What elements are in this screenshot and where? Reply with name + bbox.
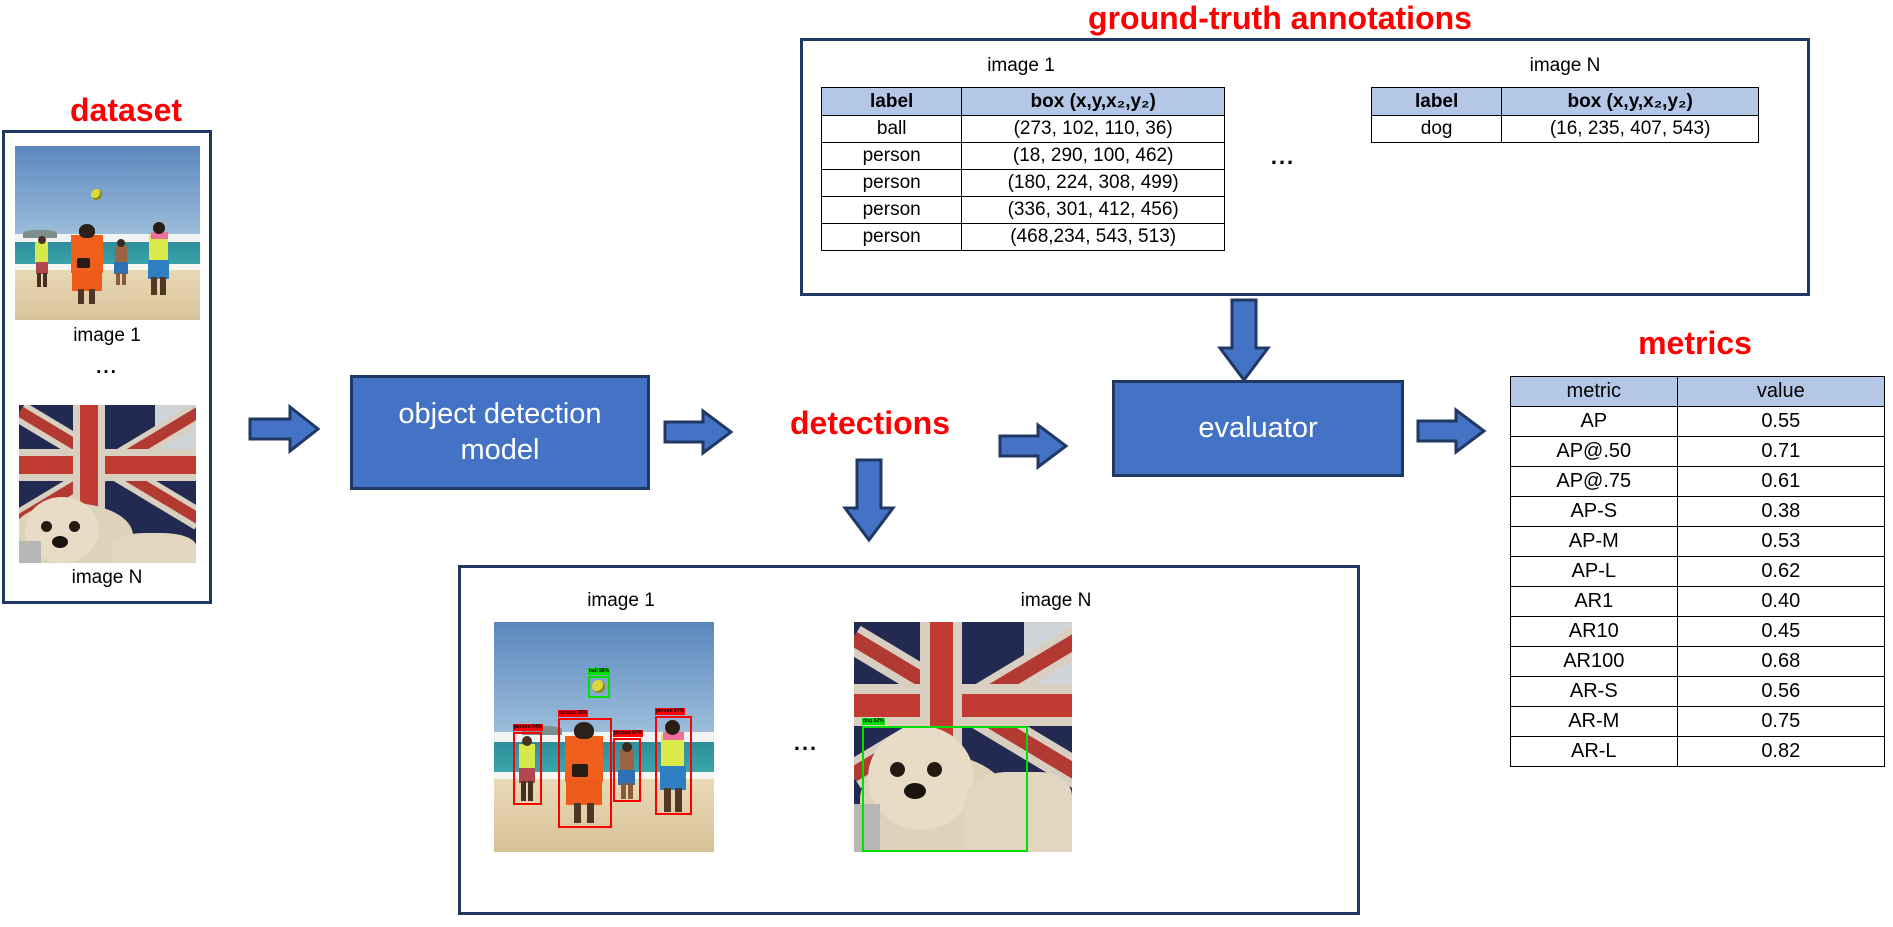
arrow-detections-down [843, 460, 895, 542]
cushion-grey [19, 541, 41, 563]
person-3-leg-r [122, 273, 126, 285]
detection-image-n: dog 92% [854, 622, 1072, 852]
gt-cell-box: (336, 301, 412, 456) [962, 197, 1225, 224]
metrics-table: metric value AP 0.55 AP@.50 0.71 AP@.75 … [1510, 376, 1885, 767]
table-row: AP 0.55 [1511, 407, 1885, 437]
metric-value: 0.56 [1677, 677, 1884, 707]
metric-name: AP@.75 [1511, 467, 1678, 497]
person-1-torso [35, 242, 48, 263]
gt-col-label: label [822, 88, 962, 116]
arrow-model-to-detections [665, 409, 733, 455]
gt-cell-box: (468,234, 543, 513) [962, 224, 1225, 251]
metric-value: 0.68 [1677, 647, 1884, 677]
gt-cell-label: person [822, 197, 962, 224]
metric-value: 0.75 [1677, 707, 1884, 737]
gt-n-col-box: box (x,y,x₂,y₂) [1502, 88, 1759, 116]
detection-label-person-2: person 95% [558, 710, 588, 717]
table-row: AR-M 0.75 [1511, 707, 1885, 737]
dataset-image-n-caption: image N [5, 567, 209, 589]
table-row: AR-S 0.56 [1511, 677, 1885, 707]
ground-truth-panel: image 1 label box (x,y,x₂,y₂) ball (273,… [800, 38, 1810, 296]
arrow-dataset-to-model [250, 405, 320, 453]
detection-box-person-4 [655, 716, 692, 815]
metric-name: AR100 [1511, 647, 1678, 677]
metric-value: 0.71 [1677, 437, 1884, 467]
gt-n-col-label: label [1372, 88, 1502, 116]
metric-value: 0.45 [1677, 617, 1884, 647]
gt-n-cell-box: (16, 235, 407, 543) [1502, 116, 1759, 143]
detection-box-ball [588, 676, 610, 698]
metrics-col-value: value [1677, 377, 1884, 407]
person-1-head [38, 236, 46, 244]
gt-image-n-caption: image N [1363, 55, 1767, 77]
dataset-image-n [19, 405, 196, 563]
dog-back [111, 533, 196, 563]
person-2-bag [77, 258, 90, 268]
metric-name: AP-L [1511, 557, 1678, 587]
gt-image-1-table: label box (x,y,x₂,y₂) ball (273, 102, 11… [821, 87, 1225, 251]
arrow-detections-to-evaluator [1000, 423, 1068, 469]
gt-cell-label: person [822, 143, 962, 170]
dataset-image-1-caption: image 1 [5, 325, 209, 347]
flag-cross-h-red [854, 694, 1072, 717]
table-header-row: metric value [1511, 377, 1885, 407]
person-3-head [117, 239, 125, 247]
metric-name: AP-S [1511, 497, 1678, 527]
table-row: dog (16, 235, 407, 543) [1372, 116, 1759, 143]
metric-value: 0.61 [1677, 467, 1884, 497]
table-row: AR1 0.40 [1511, 587, 1885, 617]
evaluator-box[interactable]: evaluator [1112, 380, 1404, 477]
detections-ellipsis: ... [741, 730, 871, 756]
metric-value: 0.62 [1677, 557, 1884, 587]
object-detection-model-box[interactable]: object detection model [350, 375, 650, 490]
metric-name: AP@.50 [1511, 437, 1678, 467]
arrow-groundtruth-down [1218, 300, 1270, 382]
person-2-head [79, 224, 95, 238]
arrow-evaluator-to-metrics [1418, 408, 1486, 454]
gt-ellipsis: ... [1223, 144, 1343, 170]
metrics-title: metrics [1505, 325, 1885, 362]
ground-truth-title: ground-truth annotations [1010, 0, 1550, 37]
dataset-ellipsis: ... [5, 357, 209, 379]
detection-box-person-2 [558, 718, 612, 828]
person-3-leg-l [116, 273, 120, 285]
detections-panel: image 1 ball 98% person 94% person 95% [458, 565, 1360, 915]
gt-cell-label: ball [822, 116, 962, 143]
metric-value: 0.53 [1677, 527, 1884, 557]
metric-name: AR10 [1511, 617, 1678, 647]
metric-value: 0.82 [1677, 737, 1884, 767]
table-header-row: label box (x,y,x₂,y₂) [1372, 88, 1759, 116]
dog-eye-right [69, 521, 80, 532]
detections-title: detections [755, 405, 985, 442]
model-label-line1: object detection [398, 398, 601, 430]
table-row: AR10 0.45 [1511, 617, 1885, 647]
det-image-n-caption: image N [911, 590, 1201, 612]
table-row: AP-M 0.53 [1511, 527, 1885, 557]
table-row: AP@.50 0.71 [1511, 437, 1885, 467]
detection-label-person-3: person 97% [613, 730, 643, 737]
person-2-leg-l [78, 289, 84, 304]
detection-box-dog [862, 726, 1028, 852]
gt-cell-label: person [822, 224, 962, 251]
person-4-head [153, 222, 165, 234]
gt-image-n-table: label box (x,y,x₂,y₂) dog (16, 235, 407,… [1371, 87, 1759, 143]
table-row: person (18, 290, 100, 462) [822, 143, 1225, 170]
metric-name: AR-S [1511, 677, 1678, 707]
detection-image-1: ball 98% person 94% person 95% person 97… [494, 622, 714, 852]
metric-name: AR-M [1511, 707, 1678, 737]
gt-cell-box: (180, 224, 308, 499) [962, 170, 1225, 197]
metric-name: AR1 [1511, 587, 1678, 617]
detection-box-person-1 [513, 732, 542, 805]
dataset-image-1 [15, 146, 200, 320]
person-4-leg-r [160, 277, 166, 295]
metric-name: AP [1511, 407, 1678, 437]
person-2-leg-r [89, 289, 95, 304]
ball [91, 189, 102, 200]
dog-eye-left [41, 521, 52, 532]
dataset-title: dataset [0, 92, 252, 129]
table-row: person (180, 224, 308, 499) [822, 170, 1225, 197]
table-row: ball (273, 102, 110, 36) [822, 116, 1225, 143]
table-row: AR-L 0.82 [1511, 737, 1885, 767]
dataset-panel: image 1 ... image N [2, 130, 212, 604]
table-row: AP@.75 0.61 [1511, 467, 1885, 497]
table-row: AR100 0.68 [1511, 647, 1885, 677]
table-row: AP-L 0.62 [1511, 557, 1885, 587]
gt-cell-label: person [822, 170, 962, 197]
gt-cell-box: (18, 290, 100, 462) [962, 143, 1225, 170]
gt-image-1-caption: image 1 [811, 55, 1231, 77]
model-label-line2: model [461, 434, 540, 466]
person-2-shorts [72, 271, 102, 291]
metric-value: 0.55 [1677, 407, 1884, 437]
sky [15, 146, 200, 238]
table-row: person (468,234, 543, 513) [822, 224, 1225, 251]
table-row: AP-S 0.38 [1511, 497, 1885, 527]
person-1-leg-l [37, 273, 41, 287]
det-image-1-caption: image 1 [481, 590, 761, 612]
person-4-leg-l [151, 277, 157, 295]
detection-label-person-1: person 94% [513, 724, 543, 731]
gt-n-cell-label: dog [1372, 116, 1502, 143]
metrics-col-metric: metric [1511, 377, 1678, 407]
gt-col-box: box (x,y,x₂,y₂) [962, 88, 1225, 116]
metric-value: 0.38 [1677, 497, 1884, 527]
detection-label-ball: ball 98% [588, 668, 610, 675]
detection-label-person-4: person 97% [655, 708, 685, 715]
table-row: person (336, 301, 412, 456) [822, 197, 1225, 224]
evaluator-label: evaluator [1198, 411, 1317, 446]
flag-cross-h-red [19, 456, 196, 474]
metric-name: AR-L [1511, 737, 1678, 767]
detection-label-dog: dog 92% [862, 718, 885, 725]
gt-cell-box: (273, 102, 110, 36) [962, 116, 1225, 143]
detection-box-person-3 [613, 738, 641, 802]
dog-nose [52, 536, 68, 548]
metric-name: AP-M [1511, 527, 1678, 557]
metric-value: 0.40 [1677, 587, 1884, 617]
table-header-row: label box (x,y,x₂,y₂) [822, 88, 1225, 116]
person-1-leg-r [43, 273, 47, 287]
